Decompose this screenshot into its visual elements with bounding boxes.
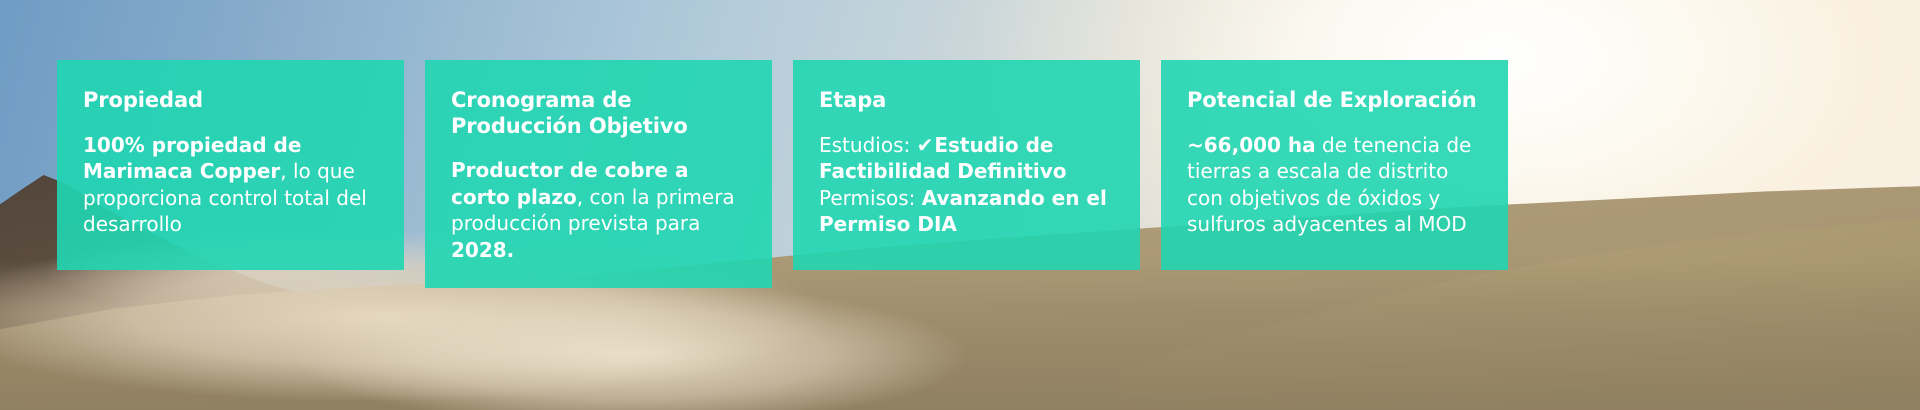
- check-icon: ✔: [917, 133, 935, 157]
- highlight-card-potencial: Potencial de Exploración ~66,000 ha de t…: [1161, 60, 1508, 270]
- card-body: ~66,000 ha de tenencia de tierras a esca…: [1187, 132, 1482, 238]
- card-body: Estudios: ✔Estudio de Factibilidad Defin…: [819, 132, 1114, 238]
- highlight-card-propiedad: Propiedad 100% propiedad de Marimaca Cop…: [57, 60, 404, 270]
- card-body-emphasis-year: 2028.: [451, 238, 514, 262]
- card-body: Productor de cobre a corto plazo, con la…: [451, 157, 746, 263]
- card-title: Etapa: [819, 88, 1114, 114]
- highlight-card-row: Propiedad 100% propiedad de Marimaca Cop…: [0, 0, 1920, 410]
- card-title: Potencial de Exploración: [1187, 88, 1482, 114]
- highlight-card-etapa: Etapa Estudios: ✔Estudio de Factibilidad…: [793, 60, 1140, 270]
- permits-label: Permisos:: [819, 186, 922, 210]
- studies-label: Estudios:: [819, 133, 917, 157]
- highlight-card-cronograma: Cronograma de Producción Objetivo Produc…: [425, 60, 772, 288]
- card-body: 100% propiedad de Marimaca Copper, lo qu…: [83, 132, 378, 238]
- card-body-emphasis: ~66,000 ha: [1187, 133, 1316, 157]
- card-body-emphasis: 100% propiedad de Marimaca Copper: [83, 133, 301, 184]
- card-title: Propiedad: [83, 88, 378, 114]
- card-title: Cronograma de Producción Objetivo: [451, 88, 746, 139]
- highlights-banner: Propiedad 100% propiedad de Marimaca Cop…: [0, 0, 1920, 410]
